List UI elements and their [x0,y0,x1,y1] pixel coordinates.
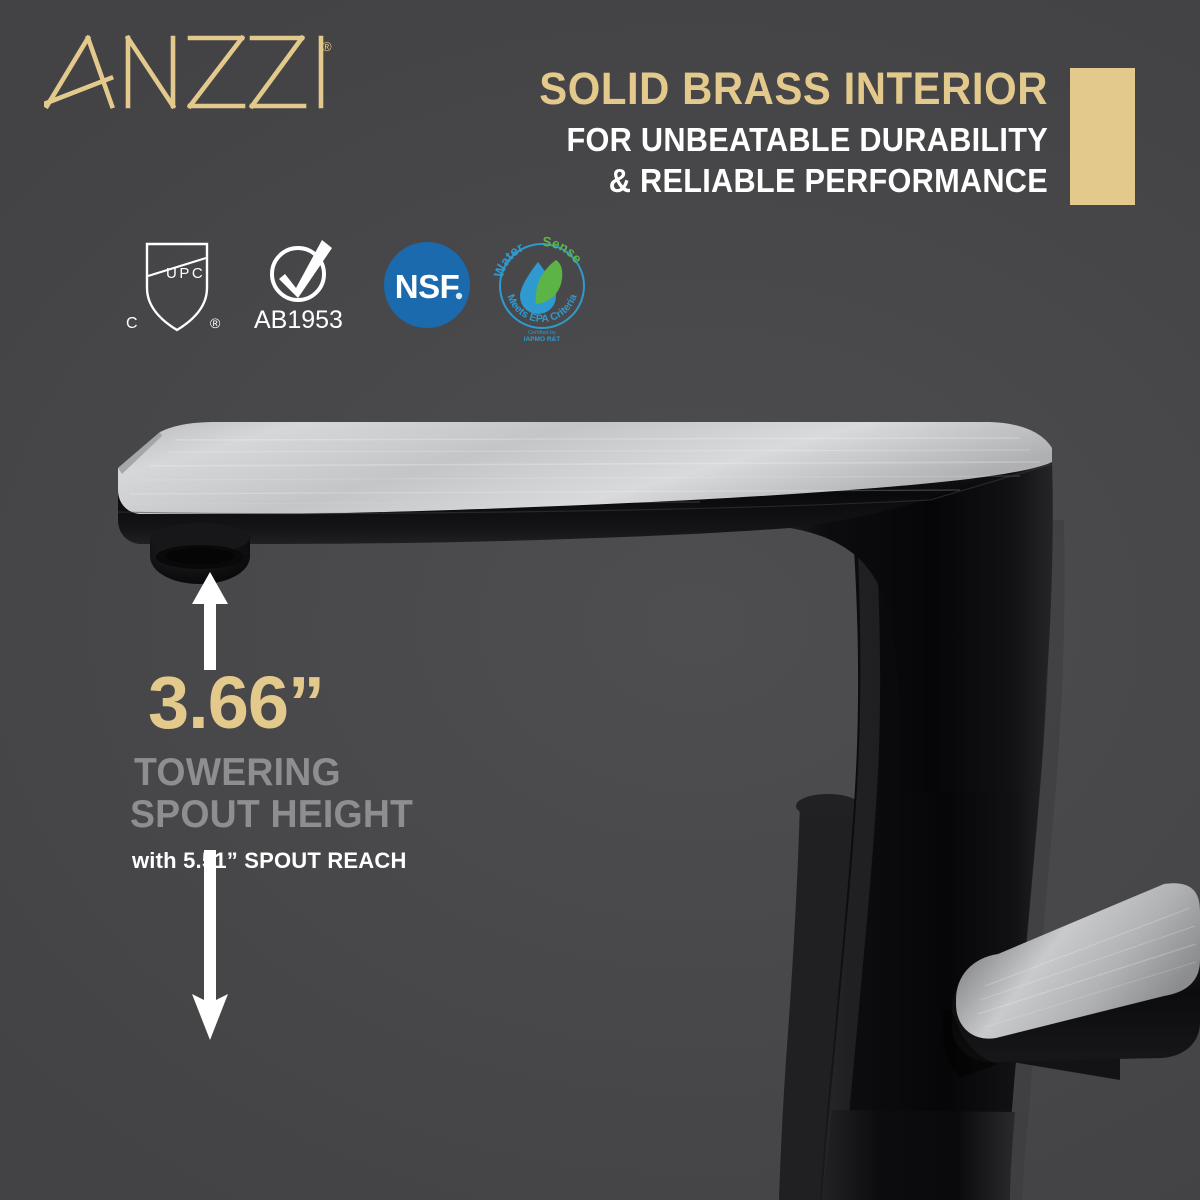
product-marketing-banner: ® SOLID BRASS INTERIOR FOR UNBEATABLE DU… [0,0,1200,1200]
callout-sub-label: with 5.51” SPOUT REACH [132,848,458,874]
callout-value: 3.66” [148,668,458,738]
callout-label-line2: SPOUT HEIGHT [130,794,445,836]
callout-label-line1: TOWERING [134,752,445,794]
spout-height-callout: 3.66” TOWERING SPOUT HEIGHT with 5.51” S… [128,668,458,874]
